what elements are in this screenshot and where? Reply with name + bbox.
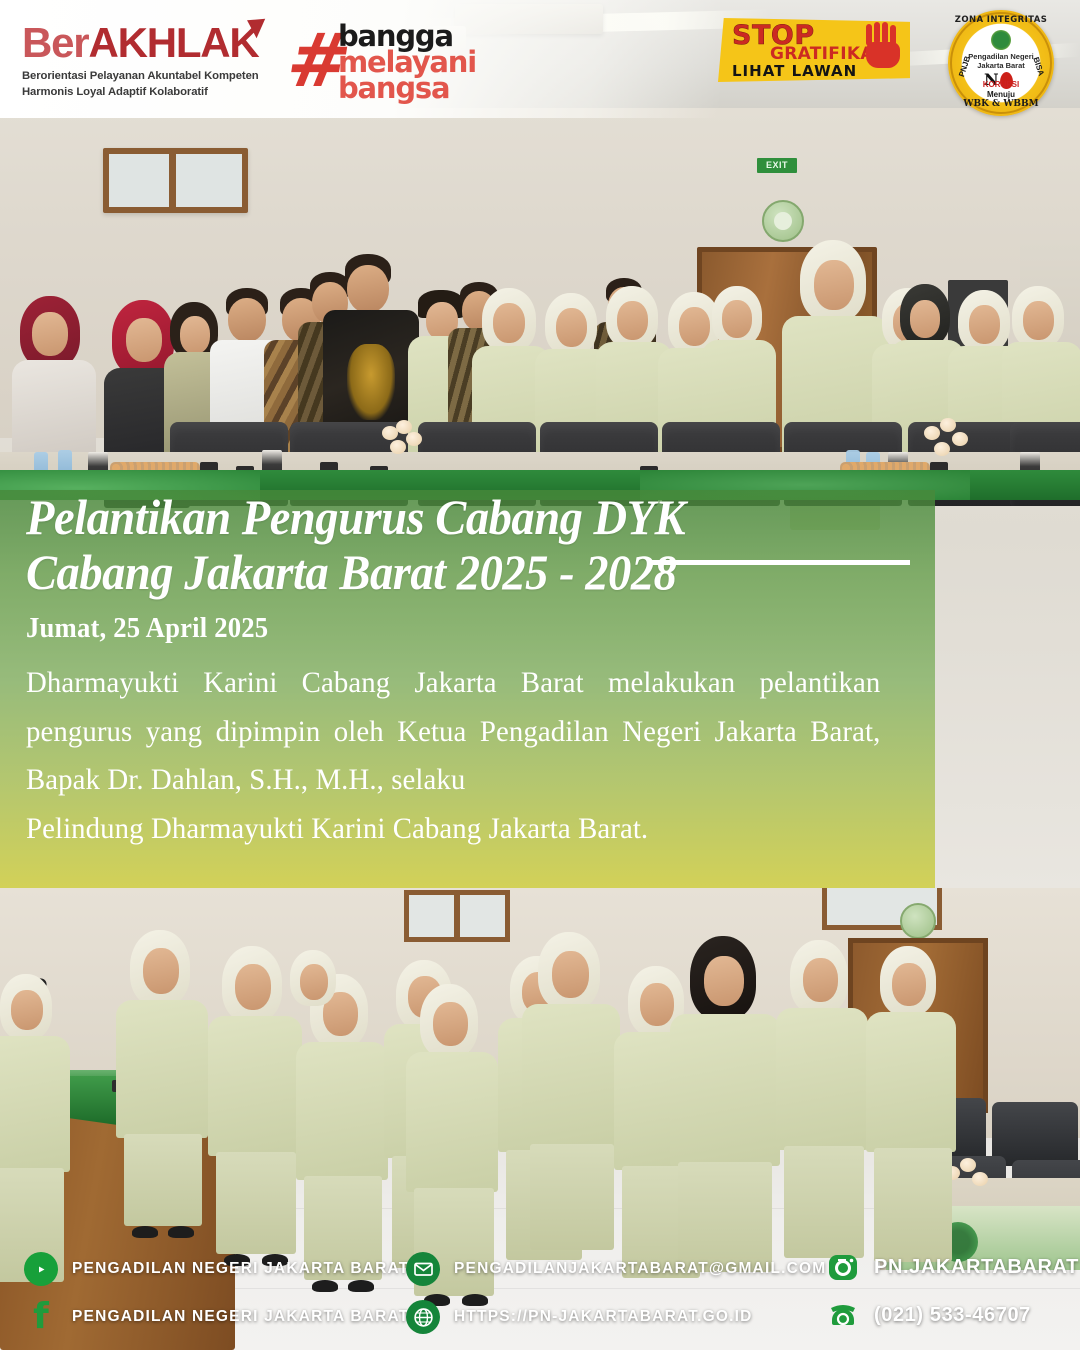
title-rule	[648, 560, 910, 565]
wall-clock	[900, 903, 936, 939]
exit-sign: EXIT	[757, 158, 797, 173]
event-description: Dharmayukti Karini Cabang Jakarta Barat …	[26, 659, 880, 853]
event-description-main: Dharmayukti Karini Cabang Jakarta Barat …	[26, 666, 880, 796]
event-date: Jumat, 25 April 2025	[26, 612, 861, 645]
footer-label-email: PENGADILANJAKARTABARAT@GMAIL.COM	[454, 1260, 826, 1278]
poster-root: EXIT	[0, 0, 1080, 1350]
phone-icon[interactable]	[826, 1298, 860, 1332]
ac-unit	[455, 4, 603, 34]
page-title-line1: Pelantikan Pengurus Cabang DYK	[26, 490, 870, 545]
globe-icon[interactable]	[406, 1300, 440, 1334]
email-icon[interactable]	[406, 1252, 440, 1286]
content-block: Pelantikan Pengurus Cabang DYK Cabang Ja…	[0, 490, 960, 853]
footer-label-facebook: PENGADILAN NEGERI JAKARTA BARAT	[72, 1308, 409, 1326]
footer-item-phone[interactable]: (021) 533-46707	[826, 1298, 1031, 1332]
footer-label-phone: (021) 533-46707	[874, 1304, 1031, 1327]
wall-clock	[762, 200, 804, 242]
window-frame	[404, 890, 510, 942]
flower-arrangement	[378, 420, 426, 468]
ac-box	[432, 26, 466, 60]
event-description-last: Pelindung Dharmayukti Karini Cabang Jaka…	[26, 805, 880, 854]
footer-item-instagram[interactable]: PN.JAKARTABARAT	[826, 1250, 1079, 1284]
footer-item-youtube[interactable]: PENGADILAN NEGERI JAKARTA BARAT	[24, 1252, 409, 1286]
footer-contact-bar: PENGADILAN NEGERI JAKARTA BARAT f PENGAD…	[0, 1238, 1080, 1350]
footer-label-youtube: PENGADILAN NEGERI JAKARTA BARAT	[72, 1260, 409, 1278]
footer-item-website[interactable]: HTTPS://PN-JAKARTABARAT.GO.ID	[406, 1300, 753, 1334]
instagram-icon[interactable]	[826, 1250, 860, 1284]
youtube-icon[interactable]	[24, 1252, 58, 1286]
footer-label-instagram: PN.JAKARTABARAT	[874, 1256, 1079, 1279]
window-frame	[103, 148, 248, 213]
page-title-line2: Cabang Jakarta Barat 2025 - 2028	[26, 545, 870, 600]
footer-item-facebook[interactable]: f PENGADILAN NEGERI JAKARTA BARAT	[24, 1300, 409, 1334]
footer-label-website: HTTPS://PN-JAKARTABARAT.GO.ID	[454, 1308, 753, 1326]
footer-item-email[interactable]: PENGADILANJAKARTABARAT@GMAIL.COM	[406, 1252, 826, 1286]
facebook-icon[interactable]: f	[24, 1300, 58, 1334]
